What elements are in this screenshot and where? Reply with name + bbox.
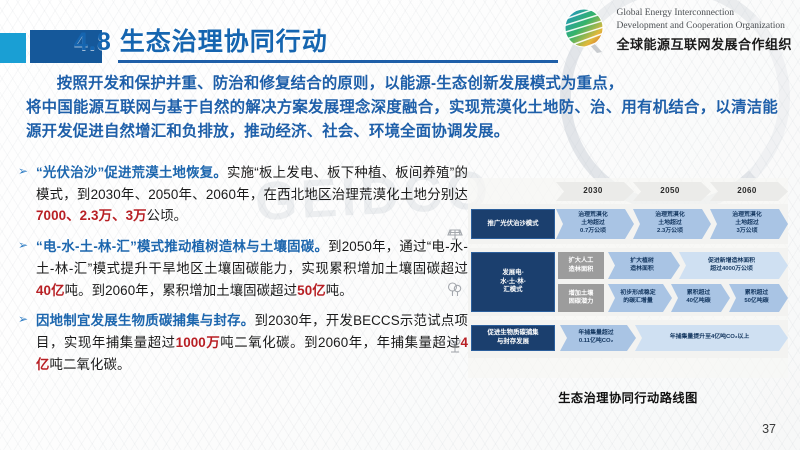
diagram-year-header-row: 2030 2050 2060 xyxy=(468,180,788,202)
row1-step-2060: 治理荒漠化 土地超过 3万公顷 xyxy=(710,209,788,239)
bullet-3-body-3: 吨二氧化碳。 xyxy=(50,357,131,372)
row2b-step-2: 累积超过 40亿吨碳 xyxy=(671,284,730,312)
page-number: 37 xyxy=(762,422,776,436)
bullet-2-body-2: 吨。到2060年，累积增加土壤固碳超过 xyxy=(65,283,298,298)
year-chevron-2060: 2060 xyxy=(710,182,788,201)
bullet-text-3: 因地制宜发展生物质碳捕集与封存。到2030年，开发BECCS示范试点项目，实现年… xyxy=(36,310,468,375)
bullet-2-lead: “电-水-土-林-汇”模式推动植树造林与土壤固碳。 xyxy=(36,239,328,254)
bullet-item-2: ➢ “电-水-土-林-汇”模式推动植树造林与土壤固碳。到2050年，通过“电-水… xyxy=(18,236,468,301)
row2-category-label: 发展电- 水-土-林- 汇模式 xyxy=(471,252,555,312)
lead-line-2: 将中国能源互联网与基于自然的解决方案发展理念深度融合，实现荒漠化土地防、治、用有… xyxy=(26,99,778,140)
row1-step-2050: 治理荒漠化 土地超过 2.3万公顷 xyxy=(633,209,711,239)
bullet-3-emphasis: 1000万 xyxy=(176,335,221,350)
header-accent-block-light xyxy=(0,33,26,63)
bullet-3-lead: 因地制宜发展生物质碳捕集与封存。 xyxy=(36,313,254,328)
bullet-1-lead: “光伏治沙”促进荒漠土地恢复。 xyxy=(36,165,227,180)
bullet-3-body-2: 吨二氧化碳。到2060年，年捕集量超过 xyxy=(220,335,460,350)
diagram-side-icons xyxy=(446,198,466,358)
row2b-sub-label: 增加土壤 固碳潜力 xyxy=(558,284,604,312)
bullet-marker-icon: ➢ xyxy=(18,162,30,227)
row1-category-label: 推广光伏治沙模式 xyxy=(471,209,555,239)
bullet-list: ➢ “光伏治沙”促进荒漠土地恢复。实施“板上发电、板下种植、板间养殖”的模式，到… xyxy=(18,162,468,384)
header-underline xyxy=(118,60,558,63)
bullet-2-emphasis-2: 50亿 xyxy=(297,283,326,298)
tree-icon xyxy=(446,280,464,298)
diagram-caption: 生态治理协同行动路线图 xyxy=(468,388,788,406)
bullet-text-2: “电-水-土-林-汇”模式推动植树造林与土壤固碳。到2050年，通过“电-水-土… xyxy=(36,236,468,301)
row2a-step-2: 促进新增造林面积 超过4000万公顷 xyxy=(679,252,788,279)
bullet-1-body-2: 公顷。 xyxy=(147,208,187,223)
row2a-step-1: 扩大植树 造林面积 xyxy=(608,252,680,279)
page-title: 4.8 生态治理协同行动 xyxy=(74,22,328,58)
lead-line-1: 按照开发和保护并重、防治和修复结合的原则，以能源-生态创新发展模式为重点， xyxy=(26,72,778,96)
row1-step-2030: 治理荒漠化 土地超过 0.7万公顷 xyxy=(556,209,634,239)
roadmap-diagram: 2030 2050 2060 推广光伏治沙模式 治理荒漠化 土地超过 0.7万公… xyxy=(468,178,788,378)
row3-step-1: 年捕集量超过 0.11亿吨CO₂ xyxy=(560,325,636,351)
bullet-text-1: “光伏治沙”促进荒漠土地恢复。实施“板上发电、板下种植、板间养殖”的模式，到20… xyxy=(36,162,468,227)
logo-text-cn: 全球能源互联网发展合作组织 xyxy=(616,34,792,53)
bullet-item-1: ➢ “光伏治沙”促进荒漠土地恢复。实施“板上发电、板下种植、板间养殖”的模式，到… xyxy=(18,162,468,227)
bullet-2-emphasis: 40亿 xyxy=(36,283,65,298)
bullet-2-body-3: 吨。 xyxy=(326,283,353,298)
row3-category-label: 促进生物质碳捕集 与封存发展 xyxy=(471,325,555,351)
logo-text-en-line2: Development and Cooperation Organization xyxy=(616,20,792,33)
logo-text-en-line1: Global Energy Interconnection xyxy=(616,7,792,20)
organization-logo: Global Energy Interconnection Developmen… xyxy=(561,6,792,54)
diagram-row-3: 促进生物质碳捕集 与封存发展 年捕集量超过 0.11亿吨CO₂ 年捕集量提升至4… xyxy=(468,320,788,358)
solar-panel-icon xyxy=(446,224,464,242)
row3-step-2: 年捕集量提升至4亿吨CO₂以上 xyxy=(635,325,788,351)
diagram-row-1: 推广光伏治沙模式 治理荒漠化 土地超过 0.7万公顷 治理荒漠化 土地超过 2.… xyxy=(468,204,788,244)
lead-paragraph: 按照开发和保护并重、防治和修复结合的原则，以能源-生态创新发展模式为重点， 将中… xyxy=(26,72,778,144)
year-chevron-2050: 2050 xyxy=(633,182,711,201)
row2b-step-1: 初步形成稳定 的碳汇增量 xyxy=(608,284,672,312)
row2b-step-3: 累积超过 50亿吨碳 xyxy=(729,284,788,312)
year-chevron-2030: 2030 xyxy=(556,182,634,201)
bullet-1-emphasis: 7000、2.3万、3万 xyxy=(36,208,147,223)
slide-canvas: GEIDCO 4.8 生态治理协同行动 xyxy=(0,0,800,450)
globe-logo-icon xyxy=(561,6,609,54)
bullet-item-3: ➢ 因地制宜发展生物质碳捕集与封存。到2030年，开发BECCS示范试点项目，实… xyxy=(18,310,468,375)
bullet-marker-icon: ➢ xyxy=(18,310,30,375)
bullet-marker-icon: ➢ xyxy=(18,236,30,301)
diagram-row-2: 发展电- 水-土-林- 汇模式 扩大人工 造林面积 扩大植树 造林面积 促进新增… xyxy=(468,248,788,316)
plant-icon xyxy=(446,336,464,354)
row2a-sub-label: 扩大人工 造林面积 xyxy=(558,252,604,279)
slide-header: 4.8 生态治理协同行动 xyxy=(0,0,800,66)
